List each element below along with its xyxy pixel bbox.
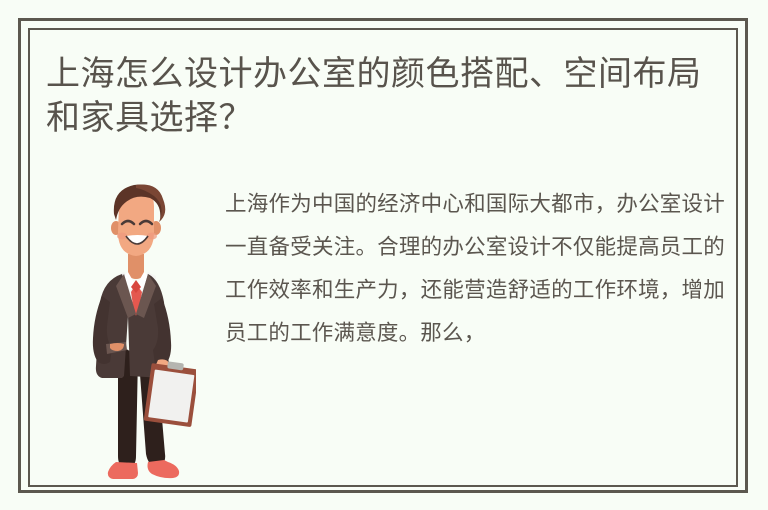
article-body: 上海作为中国的经济中心和国际大都市，办公室设计一直备受关注。合理的办公室设计不仅…: [225, 183, 725, 355]
article-title: 上海怎么设计办公室的颜色搭配、空间布局和家具选择？: [46, 52, 722, 140]
businessman-illustration: [76, 176, 196, 486]
page-root: 上海怎么设计办公室的颜色搭配、空间布局和家具选择？: [0, 0, 768, 510]
article-content: 上海怎么设计办公室的颜色搭配、空间布局和家具选择？: [28, 28, 738, 487]
